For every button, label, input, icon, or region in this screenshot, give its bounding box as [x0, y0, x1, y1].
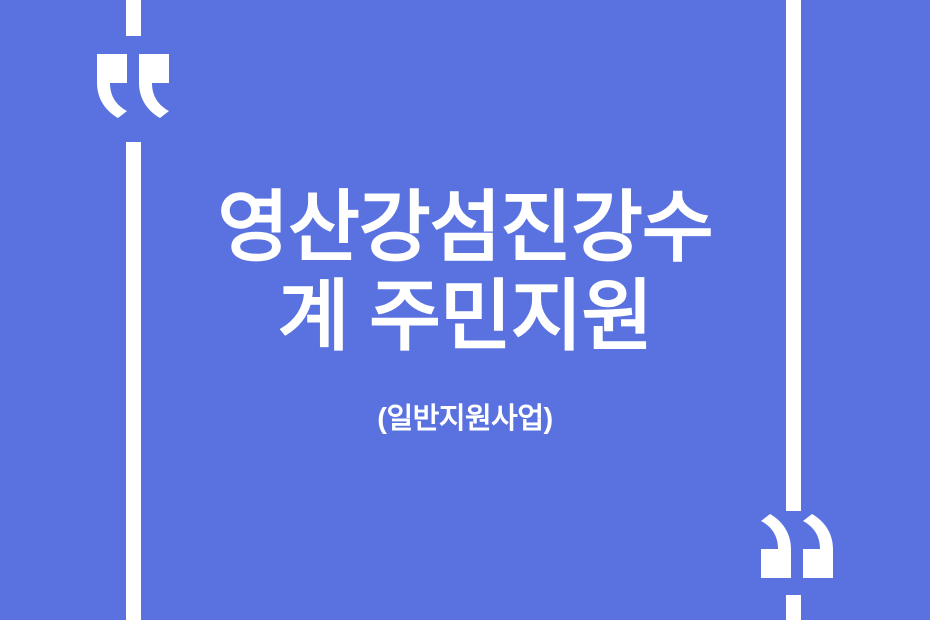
page-title-line-1: 영산강섬진강수 [217, 183, 712, 272]
page-title: 영산강섬진강수 계 주민지원 [217, 183, 712, 361]
page-title-line-2: 계 주민지원 [217, 272, 712, 361]
headline-block: 영산강섬진강수 계 주민지원 (일반지원사업) [0, 0, 930, 620]
poster-canvas: 영산강섬진강수 계 주민지원 (일반지원사업) [0, 0, 930, 620]
page-subtitle: (일반지원사업) [377, 361, 552, 437]
